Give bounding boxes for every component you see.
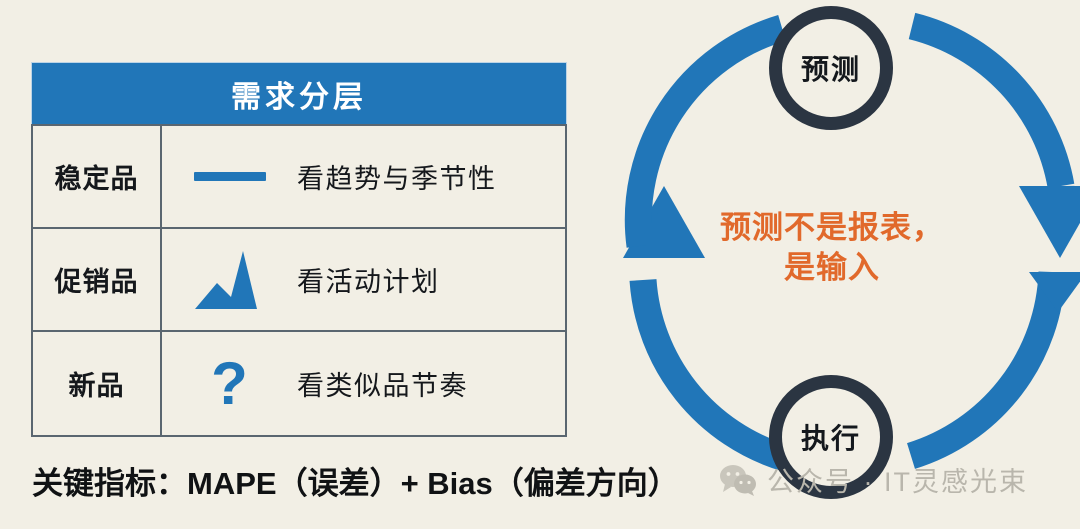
watermark: 公众号 · IT灵感光束 (719, 460, 1028, 499)
row-text: 看趋势与季节性 (297, 157, 497, 196)
flat-line-icon (162, 172, 297, 181)
cycle-center-line-1: 预测不是报表， (692, 208, 972, 248)
question-mark-icon: ? (162, 354, 297, 414)
row-text: 看类似品节奏 (297, 364, 468, 403)
table-row: 促销品 看活动计划 (33, 229, 565, 332)
row-content: 看趋势与季节性 (162, 126, 565, 227)
table-header: 需求分层 (31, 62, 567, 124)
slide-canvas: 需求分层与预测执行闭环 需求分层 稳定品 看趋势与季节性 促销品 (0, 0, 1080, 529)
page-title: 需求分层与预测执行闭环 (0, 0, 720, 8)
cycle-center-line-2: 是输入 (692, 248, 972, 288)
forecast-execution-cycle: 预测 执行 预测不是报表， 是输入 (615, 0, 1080, 529)
row-text: 看活动计划 (297, 260, 440, 299)
row-content: 看活动计划 (162, 229, 565, 330)
table-row: 稳定品 看趋势与季节性 (33, 126, 565, 229)
key-metric-line: 关键指标：MAPE（误差）+ Bias（偏差方向） (32, 458, 679, 503)
cycle-node-forecast[interactable]: 预测 (769, 6, 893, 130)
cycle-node-forecast-label: 预测 (801, 48, 861, 88)
watermark-text: 公众号 · IT灵感光束 (767, 460, 1028, 499)
cycle-node-execute-label: 执行 (801, 417, 861, 457)
table-row: 新品 ? 看类似品节奏 (33, 332, 565, 435)
row-label: 促销品 (33, 229, 162, 330)
row-label: 稳定品 (33, 126, 162, 227)
page-title-text: 需求分层与预测执行闭环 (124, 0, 465, 3)
cycle-center-message: 预测不是报表， 是输入 (692, 208, 972, 287)
wechat-icon (719, 464, 757, 496)
row-label: 新品 (33, 332, 162, 435)
spike-chart-icon (162, 249, 297, 311)
row-content: ? 看类似品节奏 (162, 332, 565, 435)
demand-tier-table: 需求分层 稳定品 看趋势与季节性 促销品 (31, 62, 567, 437)
table-body: 稳定品 看趋势与季节性 促销品 看活动计划 (31, 124, 567, 437)
